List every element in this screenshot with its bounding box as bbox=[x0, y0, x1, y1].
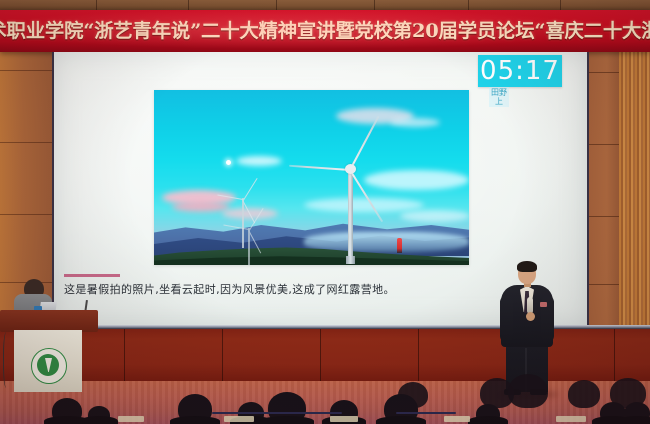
event-banner: 术职业学院“浙艺青年说”二十大精神宣讲暨党校第20届学员论坛“喜庆二十大浙艺学子… bbox=[0, 10, 650, 52]
audience-shoulders bbox=[260, 416, 314, 424]
wind-turbine-main bbox=[300, 132, 400, 264]
school-emblem-logo bbox=[31, 348, 67, 384]
handout-paper bbox=[556, 416, 586, 422]
speaker-hair bbox=[517, 261, 537, 272]
wind-turbine-distant bbox=[228, 212, 258, 256]
screenshot-root: 术职业学院“浙艺青年说”二十大精神宣讲暨党校第20届学员论坛“喜庆二十大浙艺学子… bbox=[0, 0, 650, 424]
cloud-shape bbox=[400, 210, 469, 222]
audience-shoulders bbox=[376, 416, 426, 424]
audience-shoulders bbox=[616, 416, 650, 424]
countdown-timer: 05:17 bbox=[478, 55, 562, 87]
audience-head bbox=[508, 374, 548, 408]
audience-head bbox=[568, 380, 600, 408]
wall-panel-right bbox=[585, 14, 621, 344]
speaker-pocket-square bbox=[540, 302, 547, 307]
person-in-red bbox=[397, 238, 402, 253]
podium-desktop bbox=[0, 310, 98, 332]
handout-paper bbox=[330, 416, 358, 422]
audience-shoulders bbox=[468, 416, 508, 424]
handout-paper bbox=[224, 416, 254, 422]
floor-wire bbox=[212, 412, 342, 414]
handout-paper bbox=[444, 416, 470, 422]
handout-paper bbox=[118, 416, 144, 422]
floor-wire bbox=[396, 412, 456, 414]
slide-caption: 这是暑假拍的照片,坐看云起时,因为风景优美,这成了网红露营地。 bbox=[64, 282, 576, 297]
speaker-arm-left bbox=[500, 296, 513, 342]
stage-curtain bbox=[619, 12, 650, 352]
floor-cable bbox=[3, 332, 11, 388]
timer-sub-label: 田野上 bbox=[489, 87, 509, 107]
sun-glint bbox=[226, 160, 231, 165]
speaker-hand bbox=[526, 312, 535, 321]
caption-accent-rule bbox=[64, 274, 120, 277]
timer-value: 05:17 bbox=[480, 55, 560, 87]
cloud-shape bbox=[236, 156, 282, 166]
banner-title: 术职业学院“浙艺青年说”二十大精神宣讲暨党校第20届学员论坛“喜庆二十大浙艺学子… bbox=[0, 18, 650, 44]
audience-shoulders bbox=[80, 416, 118, 424]
cloud-shape bbox=[390, 118, 440, 127]
audience-shoulders bbox=[170, 416, 220, 424]
slide-photo bbox=[154, 90, 469, 265]
